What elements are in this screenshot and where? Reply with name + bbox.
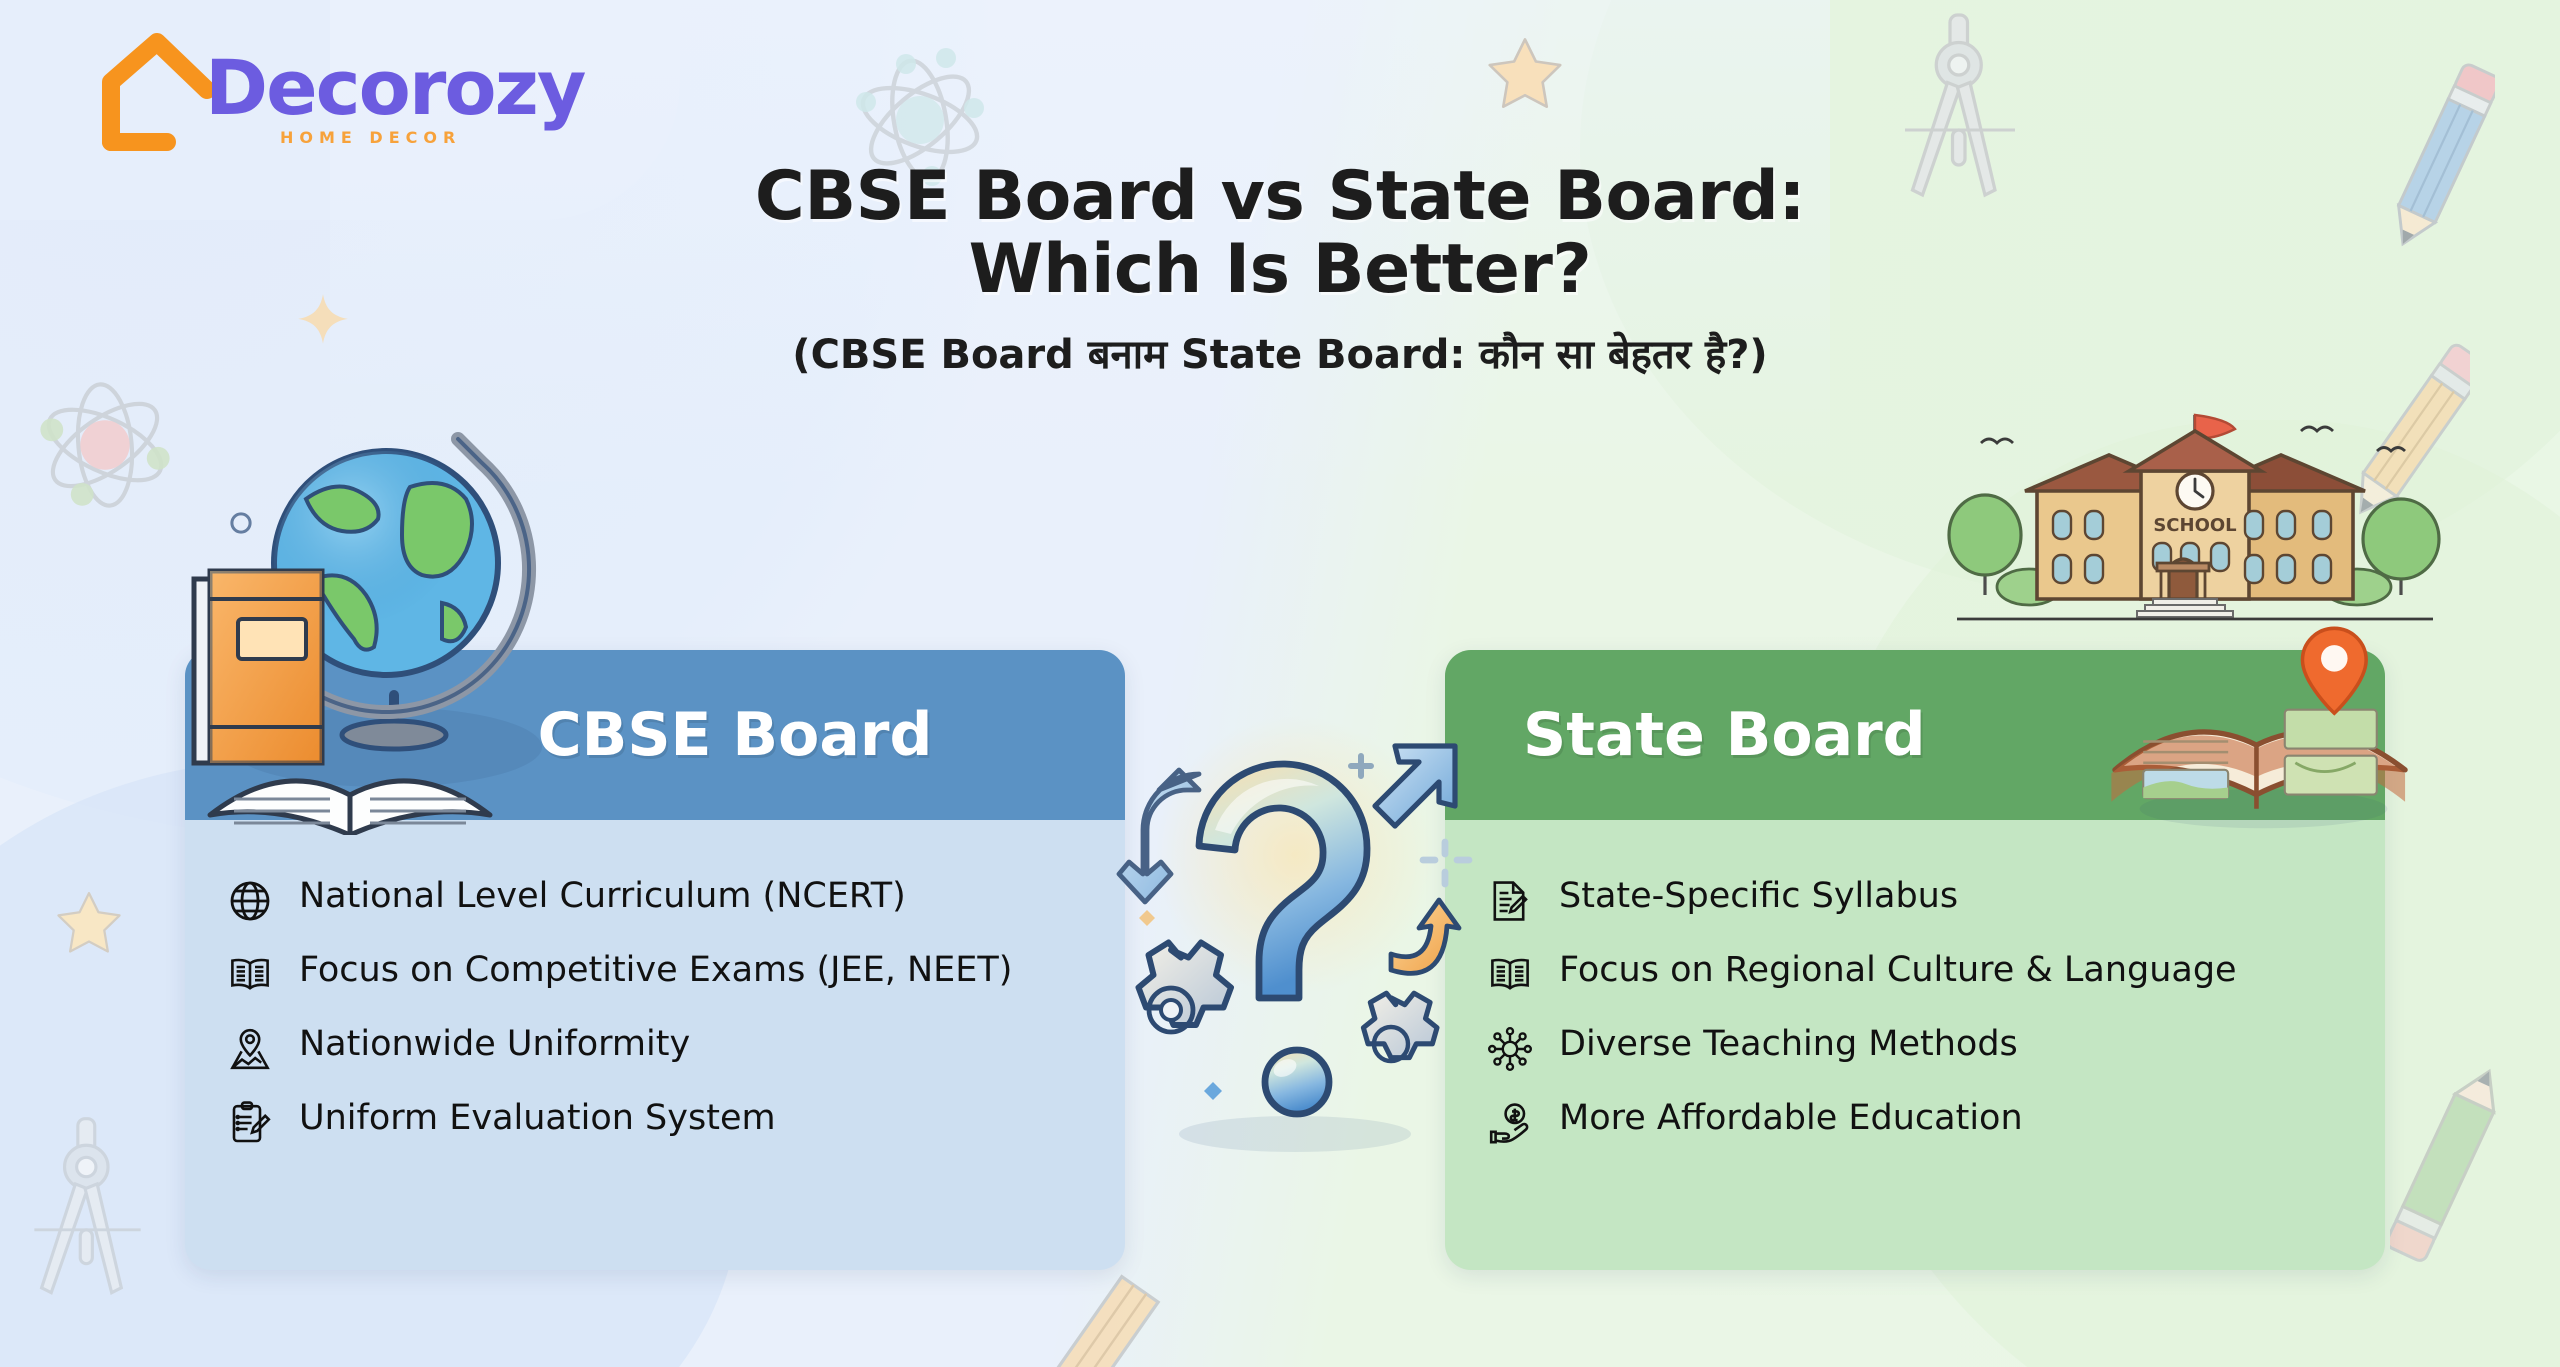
state-feature-list: State-Specific Syllabus Focus on Regiona…	[1445, 820, 2385, 1150]
headline-line-1: CBSE Board vs State Board:	[0, 160, 2560, 233]
list-item-label: National Level Curriculum (NCERT)	[299, 872, 906, 917]
globe-icon	[223, 874, 277, 928]
list-item: Focus on Regional Culture & Language	[1483, 946, 2345, 1002]
open-book-icon	[223, 948, 277, 1002]
star-icon	[50, 885, 128, 963]
list-item-label: Focus on Regional Culture & Language	[1559, 946, 2237, 991]
list-item-label: Uniform Evaluation System	[299, 1094, 776, 1139]
compass-divider-icon	[15, 1110, 160, 1340]
list-item: Focus on Competitive Exams (JEE, NEET)	[223, 946, 1085, 1002]
map-pin-icon	[223, 1022, 277, 1076]
list-item: Diverse Teaching Methods	[1483, 1020, 2345, 1076]
list-item-label: Diverse Teaching Methods	[1559, 1020, 2018, 1065]
question-mark-illustration	[1095, 690, 1495, 1160]
list-item: More Affordable Education	[1483, 1094, 2345, 1150]
brand-name: Decorozy	[205, 50, 584, 126]
list-item-label: State-Specific Syllabus	[1559, 872, 1958, 917]
star-icon	[1480, 30, 1570, 120]
list-item-label: More Affordable Education	[1559, 1094, 2023, 1139]
infographic-canvas: Decorozy HOME DECOR CBSE Board vs State …	[0, 0, 2560, 1367]
list-item: Nationwide Uniformity	[223, 1020, 1085, 1076]
open-atlas-with-map-pin-illustration	[2095, 600, 2425, 830]
list-item: National Level Curriculum (NCERT)	[223, 872, 1085, 928]
list-item: State-Specific Syllabus	[1483, 872, 2345, 928]
headline-line-2: Which Is Better?	[0, 233, 2560, 306]
list-item-label: Focus on Competitive Exams (JEE, NEET)	[299, 946, 1012, 991]
clipboard-pencil-icon	[223, 1096, 277, 1150]
headline-hindi-subtitle: (CBSE Board बनाम State Board: कौन सा बेह…	[0, 325, 2560, 380]
headline-block: CBSE Board vs State Board: Which Is Bett…	[0, 160, 2560, 380]
brand-tagline: HOME DECOR	[280, 128, 461, 147]
list-item: Uniform Evaluation System	[223, 1094, 1085, 1150]
school-sign-label: SCHOOL	[2153, 515, 2236, 536]
list-item-label: Nationwide Uniformity	[299, 1020, 690, 1065]
cbse-feature-list: National Level Curriculum (NCERT) Focus …	[185, 820, 1125, 1150]
brand-logo[interactable]: Decorozy HOME DECOR	[95, 22, 515, 152]
pencil-green-icon	[2390, 1040, 2510, 1280]
globe-and-books-illustration	[150, 395, 570, 835]
